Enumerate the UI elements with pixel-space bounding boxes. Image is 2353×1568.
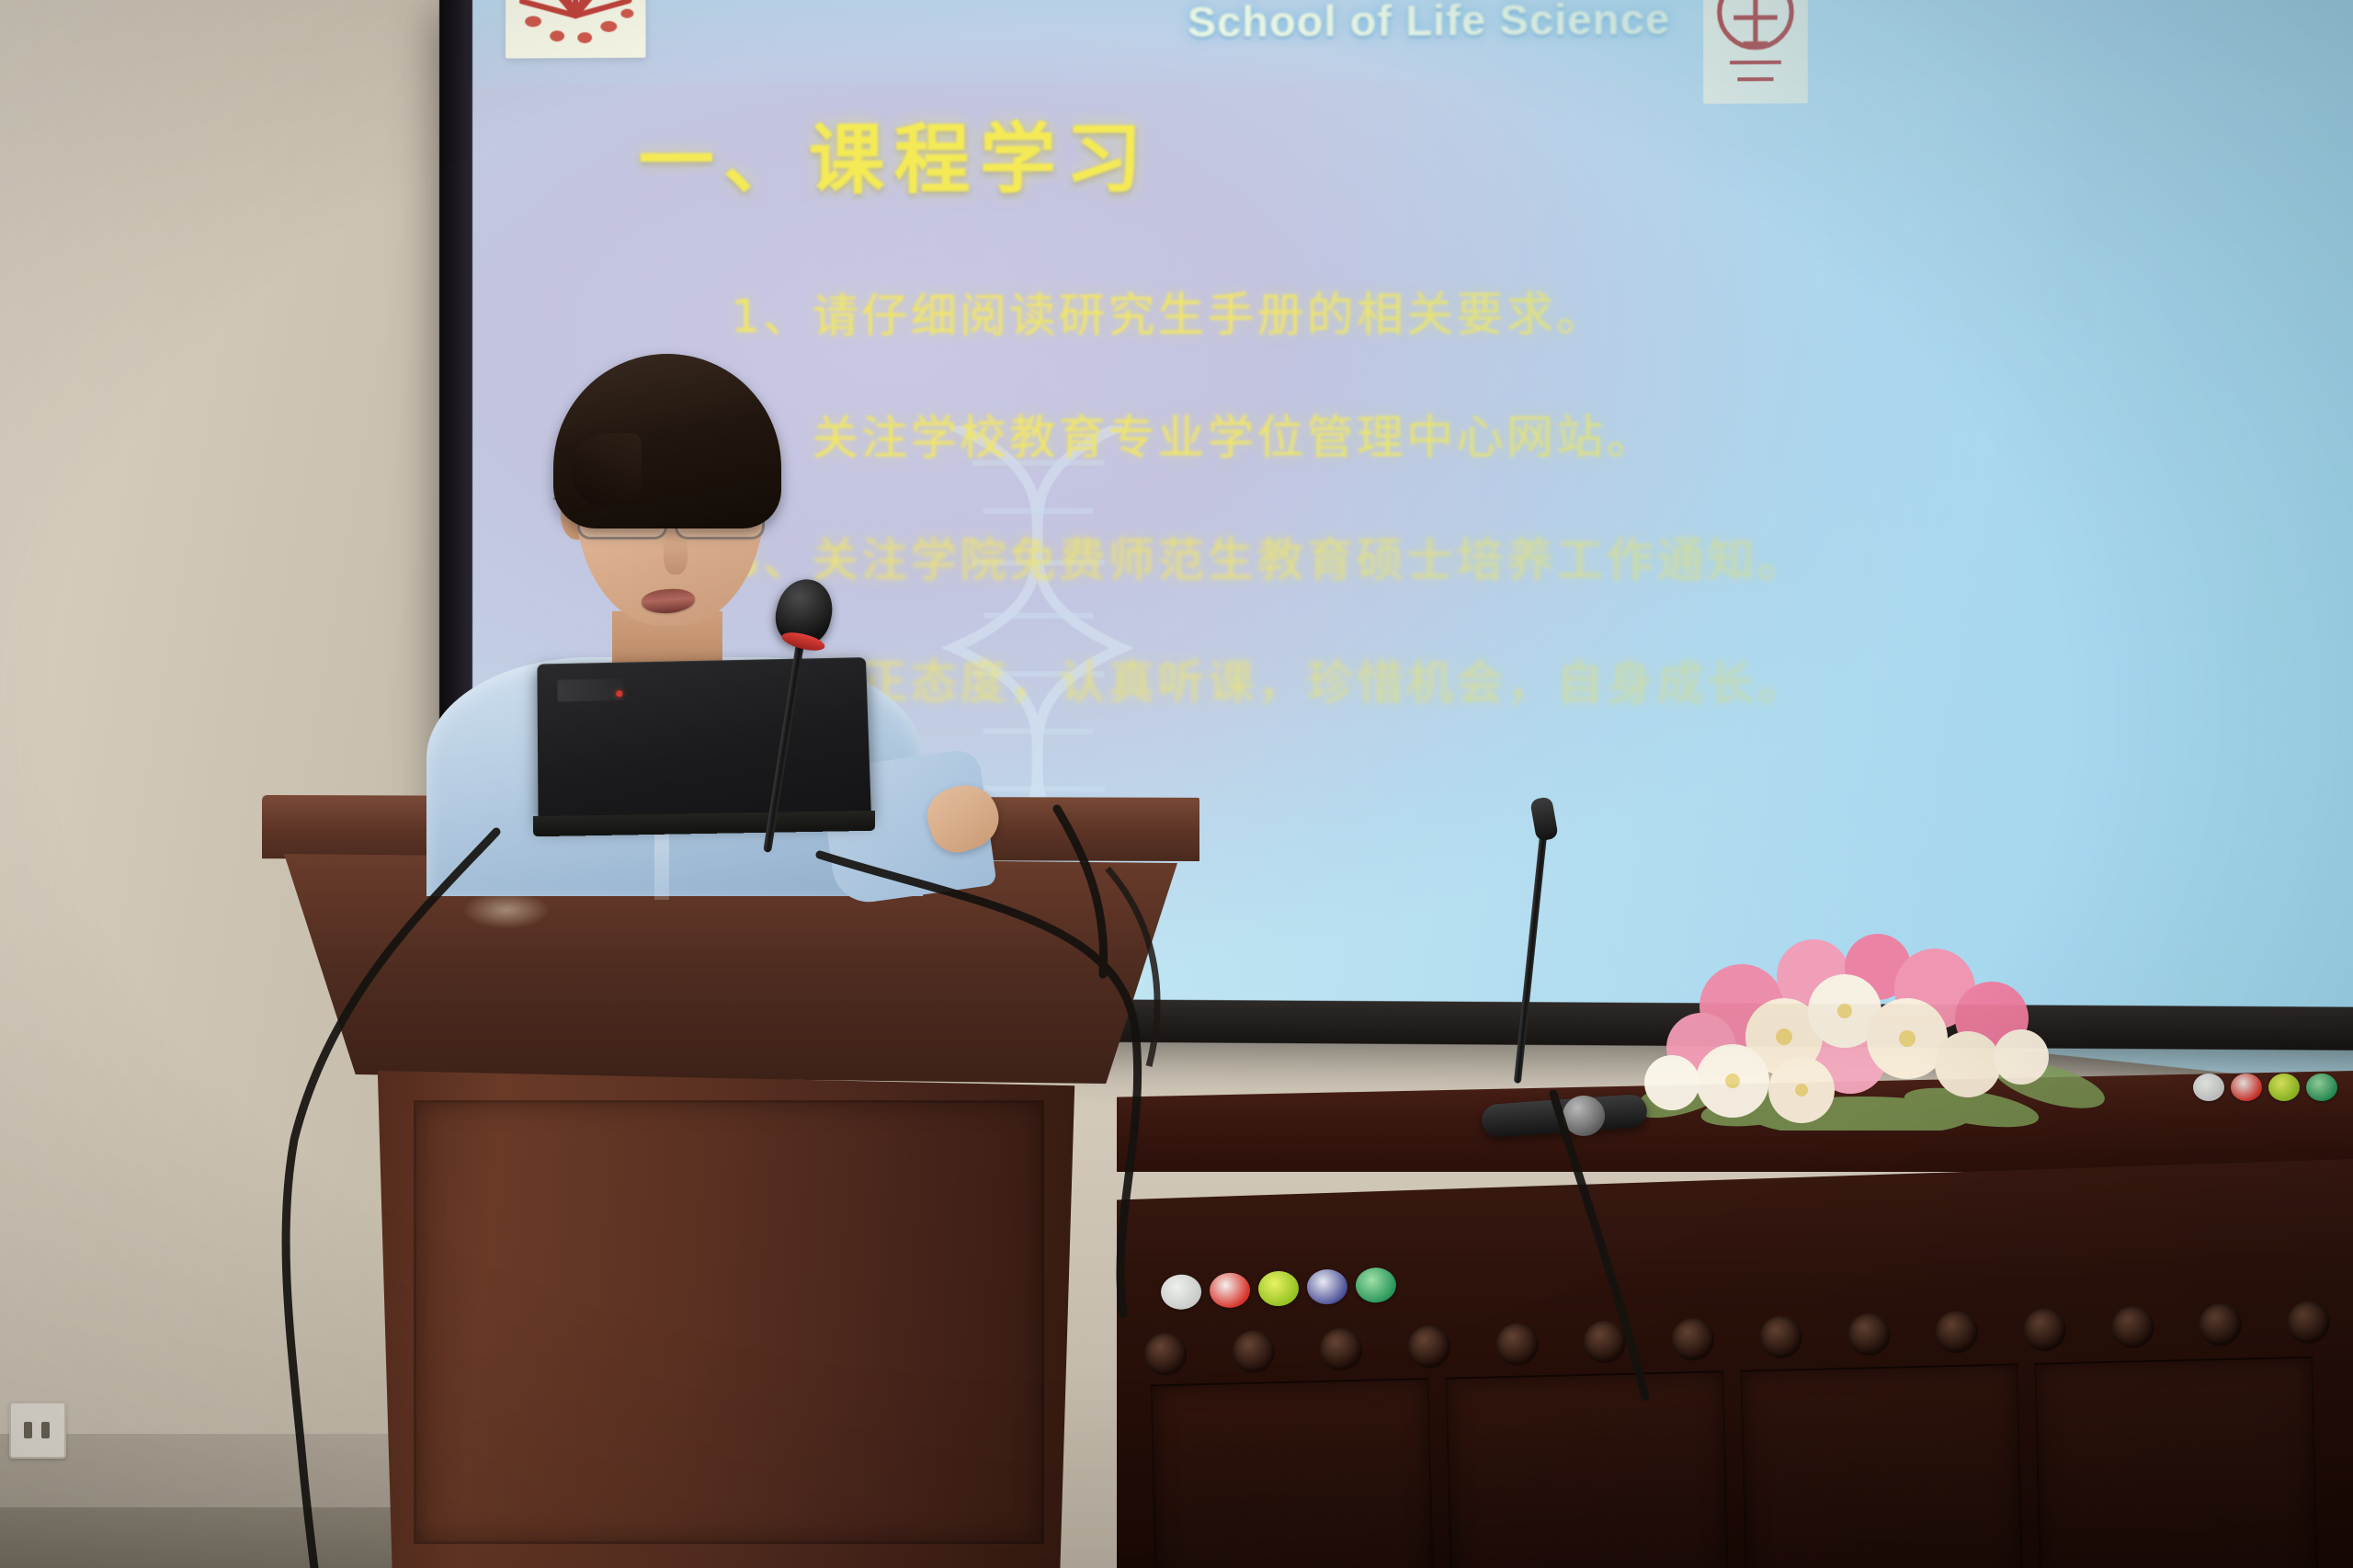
table-stud (1935, 1311, 1978, 1354)
podium-emblem-icon (464, 892, 549, 928)
table-stud (1759, 1315, 1802, 1358)
presenter-hair (553, 354, 781, 528)
sticker-icon-9 (2306, 1074, 2337, 1101)
table-stud (1847, 1312, 1891, 1356)
table-panel (1445, 1370, 1730, 1568)
table-stud (1407, 1325, 1450, 1369)
laptop[interactable] (537, 657, 871, 824)
floral-arrangement (1631, 919, 2109, 1131)
stage-table (1117, 1071, 2353, 1568)
table-stud (2111, 1305, 2154, 1348)
table-stud (1320, 1327, 1363, 1370)
podium (262, 795, 1199, 1568)
table-stud (2287, 1301, 2330, 1344)
sticker-icon-5 (1355, 1267, 1396, 1304)
slide-title: 一、课程学习 (638, 97, 1151, 209)
table-front-panel (1117, 1159, 2353, 1568)
slide-bullet-1: 1、请仔细阅读研究生手册的相关要求。 (731, 275, 2240, 346)
presenter-nose (664, 534, 688, 574)
table-stud (2199, 1303, 2242, 1346)
podium-body (363, 1071, 1089, 1568)
screenshot-root: School of Life Sci 一、课程学习 1、请仔细阅读研究生手册的相… (0, 0, 2353, 1568)
power-outlet-icon (9, 1402, 66, 1459)
table-panel-row (1151, 1357, 2320, 1568)
table-stud (1232, 1330, 1275, 1373)
table-panel (2034, 1357, 2319, 1568)
table-stud (1584, 1320, 1627, 1363)
laptop-brand-logo-icon (557, 678, 623, 701)
sticker-icon-3 (1257, 1270, 1299, 1307)
table-panel (1740, 1363, 2025, 1568)
sticker-icon-6 (2193, 1074, 2224, 1101)
table-sticker-group-right (2193, 1074, 2337, 1101)
sticker-icon-2 (1209, 1272, 1250, 1309)
sticker-icon-8 (2268, 1074, 2300, 1101)
table-stud (2023, 1308, 2066, 1351)
sticker-icon-4 (1306, 1268, 1347, 1305)
sticker-icon-7 (2231, 1074, 2262, 1101)
table-stud (1495, 1323, 1539, 1366)
table-stud (1671, 1318, 1714, 1361)
handheld-microphone-grille-icon (1563, 1096, 1605, 1136)
